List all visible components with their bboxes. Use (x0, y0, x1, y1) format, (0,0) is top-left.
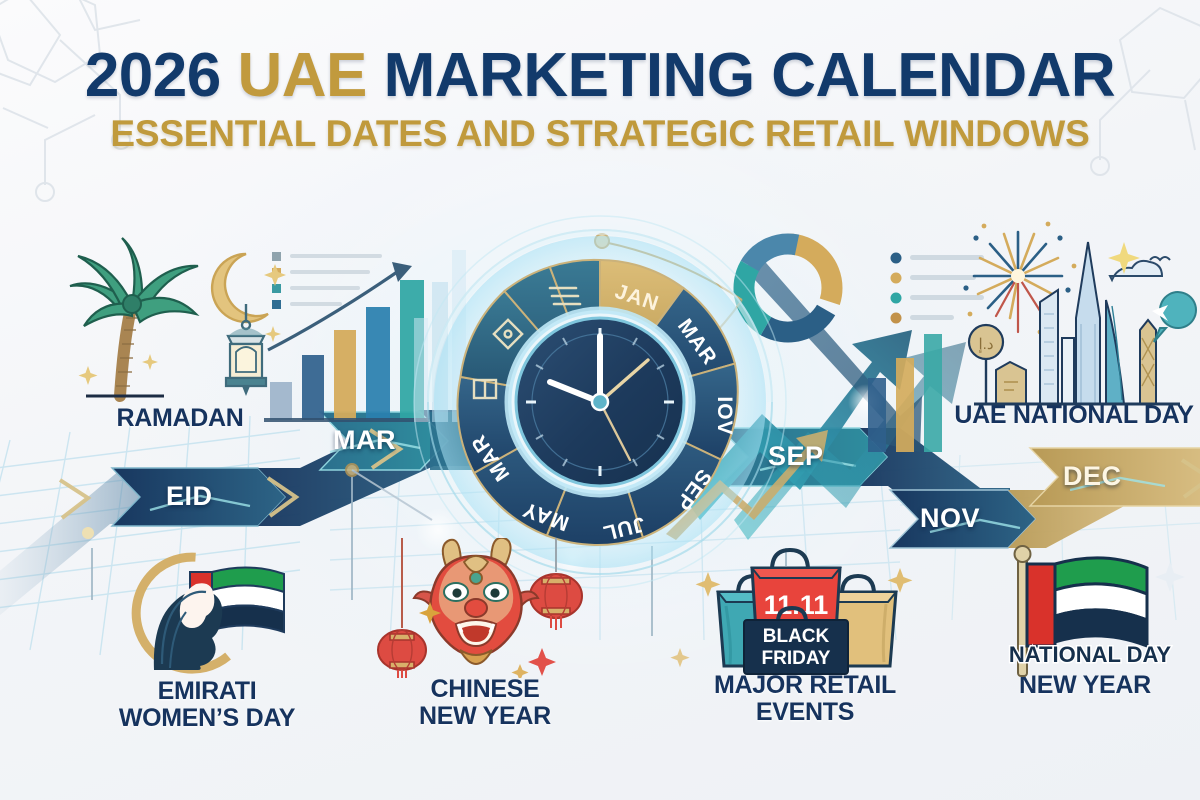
timeline-segment-nov[interactable]: NOV (920, 503, 980, 534)
timeline-segment-sep[interactable]: SEP (768, 441, 824, 472)
timeline-segment-eid[interactable]: EID (166, 481, 213, 512)
fireworks-icon (963, 222, 1076, 335)
bar-cluster-right (868, 334, 942, 452)
badge-flag-caption: NATIONAL DAY (1009, 642, 1171, 667)
fireworks-skyline-icon: د.إ (948, 214, 1200, 414)
dragon-head-icon (414, 538, 538, 664)
dragon-lanterns-icon (360, 538, 610, 678)
badge-black-friday-line2: FRIDAY (762, 648, 831, 669)
timeline-segment-mar[interactable]: MAR (333, 425, 396, 456)
page-title: 2026 UAE MARKETING CALENDAR (0, 44, 1200, 107)
node-ramadan[interactable]: RAMADAN (60, 226, 300, 432)
header: 2026 UAE MARKETING CALENDAR ESSENTIAL DA… (0, 44, 1200, 155)
woman-profile-icon (154, 583, 222, 670)
plane-pin-icon (1152, 292, 1196, 342)
sparkle-icon (1155, 562, 1185, 592)
node-new-year[interactable]: NATIONAL DAY NEW YEAR (970, 540, 1200, 699)
cloud-icon (1110, 261, 1162, 280)
badge-11-11: 11.11 (764, 590, 829, 620)
uae-flag-icon: NATIONAL DAY (970, 540, 1200, 680)
title-rest: MARKETING CALENDAR (384, 41, 1116, 110)
node-emirati-womens-day-label: EMIRATI WOMEN’S DAY (62, 678, 352, 732)
title-year: 2026 (85, 41, 221, 110)
node-chinese-new-year-label: CHINESE NEW YEAR (360, 676, 610, 730)
node-uae-national-day[interactable]: د.إ UAE NATIONAL DAY (948, 214, 1200, 429)
lantern-right-icon (530, 538, 582, 630)
wheel-segment-IOV: IOV (713, 396, 736, 435)
timeline-segment-dec[interactable]: DEC (1063, 461, 1122, 492)
node-emirati-womens-day[interactable]: EMIRATI WOMEN’S DAY (62, 538, 352, 732)
bird-icon (1150, 257, 1170, 260)
node-major-retail-events-label: MAJOR RETAIL EVENTS (660, 672, 950, 726)
node-major-retail-events[interactable]: 11.11 BLACK FRIDAY MAJOR RETAIL EVENTS (660, 536, 950, 726)
crescent-moon-icon (212, 254, 268, 322)
title-uae: UAE (238, 41, 367, 110)
badge-black-friday-line1: BLACK (763, 626, 830, 647)
infographic-canvas: 2026 UAE MARKETING CALENDAR ESSENTIAL DA… (0, 0, 1200, 800)
palm-tree-crescent-lantern-icon (60, 226, 300, 411)
calendar-clock-wheel[interactable]: JAN MAR IOV SEP JUL MAY MAR (430, 232, 770, 572)
node-chinese-new-year[interactable]: CHINESE NEW YEAR (360, 538, 610, 730)
svg-text:د.إ: د.إ (978, 336, 993, 353)
emirati-woman-flag-icon (62, 538, 352, 678)
page-subtitle: ESSENTIAL DATES AND STRATEGIC RETAIL WIN… (0, 113, 1200, 155)
uae-flag-banner: NATIONAL DAY (1009, 558, 1171, 667)
lantern-left-icon (378, 538, 426, 678)
shopping-bags-icon: 11.11 BLACK FRIDAY (660, 536, 950, 676)
